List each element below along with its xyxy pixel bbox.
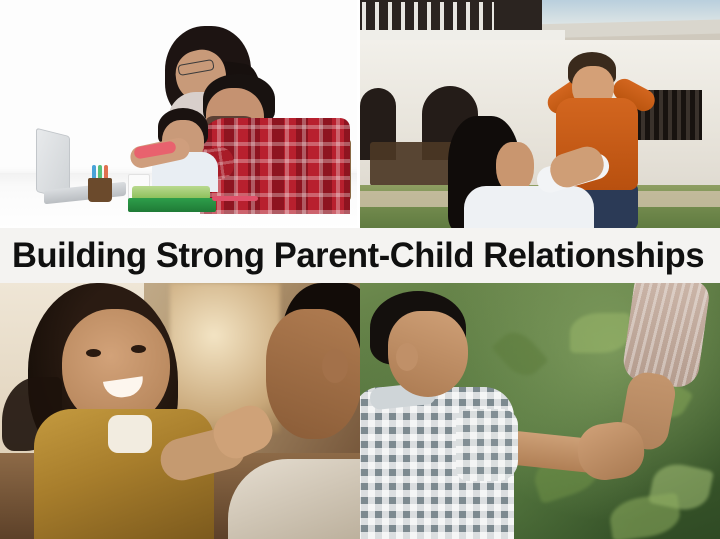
girl-collar <box>108 415 152 453</box>
poster-title: Building Strong Parent-Child Relationshi… <box>12 238 704 273</box>
foliage-leaf <box>570 313 630 353</box>
photo-top-right <box>360 0 720 229</box>
adult-sleeve <box>621 283 711 390</box>
balcony-railing <box>362 2 494 32</box>
boy-sleeve <box>456 409 518 481</box>
foliage-leaf <box>491 325 548 383</box>
collage-top-row <box>0 0 720 229</box>
book-dark-green <box>128 198 216 212</box>
title-banner: Building Strong Parent-Child Relationshi… <box>0 228 720 283</box>
collage-bottom-row <box>0 283 720 539</box>
girl-eye <box>131 345 146 353</box>
father-ear <box>322 349 348 383</box>
photo-bottom-left <box>0 283 360 539</box>
red-ruler <box>212 196 258 201</box>
foliage-leaf <box>608 492 683 539</box>
photo-top-left <box>0 0 357 229</box>
pen-cup <box>88 178 112 202</box>
mother-white-shirt <box>464 186 594 229</box>
poster-image: Building Strong Parent-Child Relationshi… <box>0 0 720 539</box>
boy-ear <box>396 343 418 371</box>
photo-bottom-right <box>360 283 720 539</box>
girl-eye <box>86 349 101 357</box>
